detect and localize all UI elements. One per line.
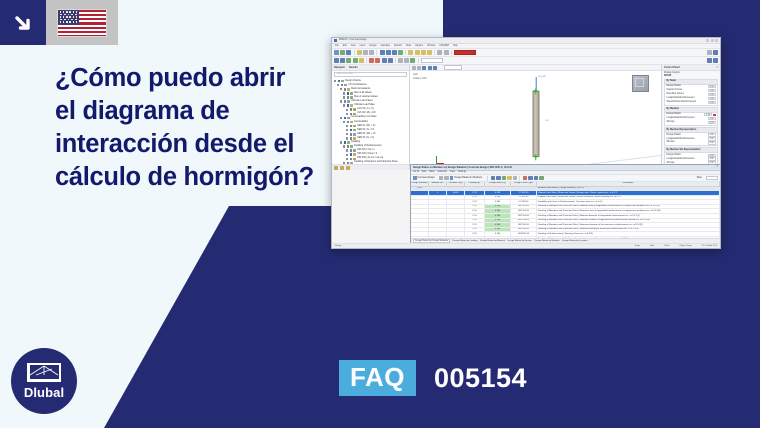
control-panel-row[interactable]: Stirrups1.00 <box>665 121 717 125</box>
tree-checkbox[interactable] <box>344 117 347 120</box>
results-table-cell <box>429 223 447 227</box>
tree-checkbox[interactable] <box>347 92 350 95</box>
results-table-cell: 0.184 <box>485 200 511 204</box>
page-title-line-4: cálculo de hormigón? <box>55 161 340 194</box>
member-label: M 1 <box>546 120 550 123</box>
control-panel-row-value[interactable]: 1.00 <box>708 141 716 144</box>
concrete-design-icon <box>413 176 417 180</box>
results-table-cell <box>429 209 447 213</box>
results-column-header[interactable]: Design Check Type <box>511 182 537 186</box>
toolbar-separator <box>405 50 406 55</box>
navigator-footer[interactable] <box>332 164 409 170</box>
app-toolbar-row-1[interactable] <box>332 49 720 57</box>
results-menu-selection[interactable]: Selection <box>438 171 447 174</box>
results-bottom-tab[interactable]: Design Ratios by Section <box>507 240 531 243</box>
window-controls[interactable] <box>706 39 718 42</box>
us-flag-icon <box>57 9 107 37</box>
results-table-cell <box>447 196 465 200</box>
results-table-cell: Detailing of Members and Particular Rule… <box>537 214 720 218</box>
control-panel-row-value[interactable]: 1.00 <box>708 121 716 124</box>
menu-item-calculate[interactable]: Calculate <box>381 45 391 48</box>
control-panel-row[interactable]: Stirrups1.00 <box>665 141 717 145</box>
tree-checkbox[interactable] <box>338 80 341 83</box>
app-toolbar-row-2[interactable] <box>332 57 720 65</box>
tree-expander-icon[interactable] <box>346 137 348 139</box>
results-table-cell: ULS <box>411 187 429 191</box>
tree-item-icon <box>350 121 353 124</box>
tree-item-label: Serviceability <box>354 121 368 124</box>
toolbar-separator <box>395 58 396 63</box>
menu-item-insert[interactable]: Insert <box>360 45 366 48</box>
tree-item-label: SER 02 | N + Vz <box>357 129 374 132</box>
results-table-cell <box>485 187 511 191</box>
toolbar-separator <box>519 176 520 181</box>
results-view-selector[interactable]: Design Ratios on Members <box>450 176 485 180</box>
design-ratio-icon <box>450 176 454 180</box>
results-table-cell <box>411 219 429 223</box>
tree-checkbox[interactable] <box>350 129 353 132</box>
viewport-toolbar[interactable] <box>410 65 661 71</box>
combination-icon[interactable] <box>388 58 393 63</box>
new-icon[interactable] <box>334 50 339 55</box>
display-factors-value: RC/CR <box>664 75 718 78</box>
faq-tag: FAQ <box>339 360 416 396</box>
tree-expander-icon[interactable]: − <box>343 145 345 147</box>
results-table-cell: Detailing of Reinforcement | Spacing of … <box>537 232 720 236</box>
results-table-cell <box>411 196 429 200</box>
results-table-cell: 0.184 <box>485 219 511 223</box>
tree-item-label: Max of all Values <box>354 92 372 95</box>
results-table-cell: Detailing of Members and Particular Rule… <box>537 209 720 213</box>
tree-expander-icon[interactable]: − <box>343 92 345 94</box>
interaction-diagram-icon[interactable] <box>539 176 543 180</box>
status-cs: CS: Global XYZ <box>702 245 717 248</box>
line-icon[interactable] <box>340 58 345 63</box>
results-tab-concrete-design[interactable]: Concrete Design <box>413 176 438 180</box>
results-filter-label: Filter <box>697 177 705 180</box>
solid-icon[interactable] <box>359 58 364 63</box>
results-table-cell <box>429 187 447 191</box>
tree-expander-icon[interactable]: − <box>340 100 342 102</box>
results-table-cell: 0.169 <box>485 196 511 200</box>
view-cube-icon[interactable] <box>632 75 649 92</box>
status-ready: Ready <box>335 245 341 248</box>
vp-rotate-icon[interactable] <box>412 66 416 70</box>
results-column-header[interactable]: Loading No. <box>465 182 485 186</box>
app-title: RFEM 6 - Concrete Design <box>339 39 367 42</box>
tree-expander-icon[interactable] <box>346 154 348 156</box>
columns-icon[interactable] <box>513 176 517 180</box>
tree-item-icon <box>353 158 356 161</box>
control-panel-row-value[interactable]: 1.00 <box>708 93 716 96</box>
results-bottom-tab[interactable]: Design Ratios by Member <box>534 240 559 243</box>
results-next-icon[interactable] <box>444 176 448 180</box>
results-table-cell: CO1 <box>465 205 485 209</box>
menu-item-window[interactable]: Window <box>427 45 435 48</box>
faq-badge: FAQ 005154 <box>339 360 527 396</box>
control-panel-row-value[interactable]: 1.00 <box>708 154 716 157</box>
toolbar-separator <box>434 50 435 55</box>
print-table-icon[interactable] <box>507 176 511 180</box>
results-table-cell: CC101.00 <box>511 191 537 195</box>
tree-item-icon <box>350 96 353 99</box>
navigator-tree[interactable]: −Design Checks−CO Combinations−Matrix An… <box>332 78 409 164</box>
tree-item-label: Serviceability Limit State <box>351 116 376 119</box>
tree-expander-icon[interactable]: − <box>343 96 345 98</box>
tree-expander-icon[interactable]: − <box>340 117 342 119</box>
tree-item-icon <box>347 117 350 120</box>
table-icon[interactable] <box>380 50 385 55</box>
toolbar-separator <box>487 176 488 181</box>
status-grid[interactable]: Grid <box>650 245 654 248</box>
render-icon[interactable] <box>437 50 442 55</box>
results-bottom-tab[interactable]: Design Ratios by Material <box>480 240 505 243</box>
results-table-cell <box>447 232 465 236</box>
results-table-cell: DET101.00 <box>511 205 537 209</box>
navigator-tab-results[interactable]: Results <box>349 66 358 69</box>
dimension-icon[interactable] <box>410 58 415 63</box>
tree-expander-icon[interactable] <box>346 125 348 127</box>
results-table-cell <box>429 228 447 232</box>
calculate-icon[interactable] <box>398 50 403 55</box>
results-menu-settings[interactable]: Settings <box>458 171 466 174</box>
results-table-cell: CO1 <box>465 219 485 223</box>
app-icon <box>334 39 337 42</box>
results-table-cell <box>447 228 465 232</box>
tree-item-label: ULS 02 | My + Mz <box>357 112 376 115</box>
tree-checkbox[interactable] <box>344 88 347 91</box>
results-table-cell: CO1 <box>465 200 485 204</box>
control-panel-row-label: Support Forces <box>667 89 683 92</box>
save-icon[interactable] <box>346 50 351 55</box>
delete-row-icon[interactable] <box>523 176 527 180</box>
surface-icon[interactable] <box>353 58 358 63</box>
language-flag-button[interactable] <box>46 0 118 45</box>
results-table-cell: CO1 <box>465 228 485 232</box>
menu-item-help[interactable]: Help <box>453 45 458 48</box>
menu-item-options[interactable]: Options <box>415 45 423 48</box>
control-panel-row-value[interactable]: 1.00 <box>708 101 716 104</box>
results-menu-goto[interactable]: Go To <box>413 171 419 174</box>
grid-icon[interactable] <box>386 50 391 55</box>
column-member[interactable] <box>532 91 539 157</box>
results-table-cell: CC103.00 <box>511 200 537 204</box>
dlubal-logo-text: Dlubal <box>24 385 64 400</box>
vp-iso-icon[interactable] <box>422 66 426 70</box>
redo-icon[interactable] <box>369 50 374 55</box>
node-support-top[interactable] <box>533 88 539 94</box>
language-bar <box>0 0 118 45</box>
results-table-cell <box>447 223 465 227</box>
vp-front-icon[interactable] <box>428 66 432 70</box>
results-bottom-tab[interactable]: Design Ratios by Loading <box>453 240 478 243</box>
tree-checkbox[interactable] <box>347 145 350 148</box>
tree-checkbox[interactable] <box>350 158 353 161</box>
control-panel-row-value[interactable]: 1.00 <box>708 97 716 100</box>
tree-expander-icon[interactable] <box>346 158 348 160</box>
node-support-bottom[interactable] <box>533 154 539 160</box>
tree-expander-icon[interactable]: − <box>334 80 336 82</box>
tree-item-icon <box>353 129 356 132</box>
control-panel-row-label: Longitudinal Reinforcement <box>667 138 695 141</box>
results-table-cell: DUR102.00 <box>511 237 537 238</box>
tree-checkbox[interactable] <box>350 108 353 111</box>
tree-item-icon <box>353 113 356 116</box>
control-panel-row-value[interactable]: 1.00 <box>708 117 716 120</box>
open-icon[interactable] <box>340 50 345 55</box>
hinge-icon[interactable] <box>375 58 380 63</box>
results-table-cell: Durability and Cover to Reinforcement | … <box>537 200 720 204</box>
faq-card: ¿Cómo puedo abrir el diagrama de interac… <box>0 0 760 428</box>
status-ortho[interactable]: Ortho <box>664 245 669 248</box>
view-selector[interactable] <box>421 58 443 63</box>
results-menu-view[interactable]: View <box>450 171 455 174</box>
status-bar-right[interactable]: Snap Grid Ortho Object Snap CS: Global X… <box>635 245 717 248</box>
tree-checkbox[interactable] <box>344 141 347 144</box>
tree-expander-icon[interactable]: − <box>343 104 345 106</box>
tree-expander-icon[interactable] <box>346 109 348 111</box>
navigator-filter-input[interactable]: Enter text to filter <box>334 72 407 77</box>
results-table[interactable]: Design SituationMember No.Location x [m]… <box>411 182 720 238</box>
tree-checkbox[interactable] <box>341 84 344 87</box>
results-tab-label: Concrete Design <box>418 177 435 180</box>
results-column-header[interactable]: Member No. <box>429 182 447 186</box>
status-objectsnap[interactable]: Object Snap <box>680 245 692 248</box>
select-icon[interactable] <box>398 58 403 63</box>
load-case-selector[interactable] <box>454 50 476 55</box>
tree-item-icon <box>347 100 350 103</box>
node-icon[interactable] <box>334 58 339 63</box>
results-table-cell: CO1 <box>465 232 485 236</box>
settings-icon[interactable] <box>707 50 712 55</box>
control-panel-row[interactable]: Shear/Torsion Reinforcement1.00 <box>665 101 717 105</box>
tree-checkbox[interactable] <box>347 121 350 124</box>
toolbar-separator <box>451 50 452 55</box>
tree-checkbox[interactable] <box>350 125 353 128</box>
results-minimize-icon[interactable]: _ <box>714 166 715 169</box>
control-panel-row-label: Longitudinal Reinforcement <box>667 117 695 120</box>
results-table-cell: Detailing of Members and Particular Rule… <box>537 223 720 227</box>
faq-number: 005154 <box>434 363 527 394</box>
navigator-tab-navigator[interactable]: Navigator <box>334 66 345 69</box>
close-icon[interactable] <box>715 39 718 42</box>
maximize-icon[interactable] <box>711 39 714 42</box>
layers-icon[interactable] <box>392 50 397 55</box>
tree-refresh-icon[interactable] <box>346 166 350 170</box>
results-icon[interactable] <box>707 58 712 63</box>
results-table-cell <box>411 205 429 209</box>
results-table-cell <box>411 232 429 236</box>
tree-expander-icon[interactable] <box>346 113 348 115</box>
control-panel-group: By NodeDesign Ratios1.00Support Forces1.… <box>664 79 718 106</box>
tree-checkbox[interactable] <box>350 153 353 156</box>
control-panel-close-icon[interactable]: × <box>717 66 718 69</box>
control-panel-groups[interactable]: By NodeDesign Ratios1.00Support Forces1.… <box>662 79 720 164</box>
viewport-label-sub: Loads | 1 kN <box>413 77 426 80</box>
tree-collapse-icon[interactable] <box>340 166 344 170</box>
results-table-cell: 0.169 <box>485 191 511 195</box>
tree-expander-icon[interactable] <box>346 129 348 131</box>
tree-expander-icon[interactable]: − <box>340 141 342 143</box>
navigator-filter-placeholder: Enter text to filter <box>337 73 354 76</box>
tree-item-icon <box>344 84 347 87</box>
load-icon[interactable] <box>382 58 387 63</box>
tree-expander-icon[interactable]: − <box>343 121 345 123</box>
menu-item-tools[interactable]: Tools <box>406 45 411 48</box>
control-panel-row-value[interactable]: 1.00 <box>708 85 716 88</box>
tree-checkbox[interactable] <box>350 137 353 140</box>
results-column-header[interactable]: Description <box>537 182 720 186</box>
results-close-icon[interactable]: × <box>717 166 718 169</box>
zoom-fit-icon[interactable] <box>421 50 426 55</box>
results-view-label: Design Ratios on Members <box>454 177 482 180</box>
results-column-header[interactable]: Design Situation <box>411 182 429 186</box>
tree-item-label: ULS 01 | N + Vy <box>357 108 374 111</box>
model-viewport[interactable]: ULS Loads | 1 kN 10.0 kN M 1 <box>410 65 662 170</box>
zoom-in-icon[interactable] <box>408 50 413 55</box>
pan-icon[interactable] <box>427 50 432 55</box>
tree-item-label: Design Checks <box>345 80 361 83</box>
sort-icon[interactable] <box>496 176 500 180</box>
menu-item-design[interactable]: Design <box>369 45 376 48</box>
results-window-controls[interactable]: _ × <box>714 166 718 169</box>
control-panel-color-swatch[interactable] <box>713 114 715 116</box>
tree-item-icon <box>350 145 353 148</box>
support-icon[interactable] <box>369 58 374 63</box>
diagram-icon[interactable] <box>713 58 718 63</box>
navigator-panel: Navigator Results Enter text to filter −… <box>332 65 410 170</box>
results-bottom-tab[interactable]: Design Ratios by Location <box>562 240 587 243</box>
print-icon[interactable] <box>357 50 362 55</box>
tree-checkbox[interactable] <box>350 149 353 152</box>
results-table-cell: CO1 <box>465 191 485 195</box>
control-panel-row-value[interactable]: 1.00 <box>708 89 716 92</box>
tree-item-label: DIN 001 | Cov / c <box>357 149 375 152</box>
page-title-line-1: ¿Cómo puedo abrir <box>55 62 340 95</box>
results-table-cell <box>429 200 447 204</box>
control-panel-row-value[interactable]: 1.00 <box>708 157 716 160</box>
results-column-header[interactable]: Design Ratio η [-] <box>485 182 511 186</box>
menu-item-cadbim[interactable]: CAD/BIM <box>439 45 449 48</box>
tree-expander-icon[interactable]: − <box>340 88 342 90</box>
results-table-cell: 0.184 <box>485 205 511 209</box>
results-filter-input[interactable] <box>706 176 718 181</box>
tree-item-icon <box>350 104 353 107</box>
tree-item-label: Matrix Annotations <box>351 88 370 91</box>
menu-item-view[interactable]: View <box>351 45 356 48</box>
menu-item-edit[interactable]: Edit <box>343 45 347 48</box>
tree-item-icon <box>347 88 350 91</box>
control-panel-group: By MemberDesign Ratios1.00Longitudinal R… <box>664 107 718 126</box>
control-panel-row-label: Design Ratios <box>667 134 681 137</box>
results-table-cell <box>465 187 485 191</box>
dlubal-logo: Dlubal <box>11 348 77 414</box>
app-main-body: Navigator Results Enter text to filter −… <box>332 65 720 170</box>
results-table-cell: DUR101.00 <box>511 232 537 236</box>
tree-checkbox[interactable] <box>347 104 350 107</box>
tree-expander-icon[interactable] <box>346 133 348 135</box>
control-panel-row-label: Design Ratios <box>667 154 681 157</box>
results-table-cell <box>429 237 447 238</box>
tree-expander-icon[interactable] <box>346 149 348 151</box>
export-excel-icon[interactable] <box>502 176 506 180</box>
tree-item-icon <box>341 80 344 83</box>
results-table-cell: CC102.00 <box>511 196 537 200</box>
results-table-cell: Members and Nodes | Design Situation | U… <box>537 187 720 191</box>
results-table-cell <box>511 187 537 191</box>
control-panel-row-value[interactable]: 1.00 <box>708 133 716 136</box>
search-icon[interactable] <box>528 176 532 180</box>
tree-expand-icon[interactable] <box>334 166 338 170</box>
minimize-icon[interactable] <box>706 39 709 42</box>
viewport-label-title: ULS <box>413 73 418 76</box>
status-snap[interactable]: Snap <box>635 245 640 248</box>
graph-icon[interactable] <box>534 176 538 180</box>
results-table-cell <box>429 196 447 200</box>
vp-loadcase-field[interactable] <box>444 65 462 70</box>
navigator-header: Navigator Results <box>332 65 409 71</box>
tree-checkbox[interactable] <box>350 113 353 116</box>
tree-checkbox[interactable] <box>344 100 347 103</box>
vp-top-icon[interactable] <box>433 66 437 70</box>
undo-icon[interactable] <box>363 50 368 55</box>
results-table-cell <box>447 187 465 191</box>
control-panel-group: By Member RepresentationDesign Ratios1.0… <box>664 127 718 146</box>
results-table-cell <box>411 191 429 195</box>
zoom-out-icon[interactable] <box>415 50 420 55</box>
results-table-cell: 0.184 <box>485 223 511 227</box>
tree-item-icon <box>353 108 356 111</box>
display-factors-label: Display Factors <box>664 72 680 74</box>
wireframe-icon[interactable] <box>444 50 449 55</box>
menu-item-results[interactable]: Results <box>394 45 402 48</box>
tree-checkbox[interactable] <box>347 96 350 99</box>
results-table-body[interactable]: ULSMembers and Nodes | Design Situation … <box>411 187 720 238</box>
member-icon[interactable] <box>346 58 351 63</box>
results-table-cell: DET103.00 <box>511 214 537 218</box>
results-table-cell <box>411 209 429 213</box>
results-prev-icon[interactable] <box>439 176 443 180</box>
results-table-cell <box>447 237 465 238</box>
results-table-cell: 0.000 <box>447 191 465 195</box>
control-panel-row-label: Longitudinal Reinforcement <box>667 97 695 100</box>
tree-expander-icon[interactable]: − <box>337 84 339 86</box>
results-menu-table[interactable]: Table <box>429 171 435 174</box>
tree-checkbox[interactable] <box>350 133 353 136</box>
results-menu-edit[interactable]: Edit <box>422 171 426 174</box>
filter-icon[interactable] <box>491 176 495 180</box>
results-table-cell: Detailing of Members and Particular Rule… <box>537 228 720 232</box>
vp-zoom-icon[interactable] <box>417 66 421 70</box>
results-table-cell <box>411 228 429 232</box>
control-panel-group: By Member Set RepresentationDesign Ratio… <box>664 147 718 164</box>
control-panel: Control Panel × Display Factors RC/CR By… <box>662 65 720 170</box>
page-title-line-3: interacción desde el <box>55 128 340 161</box>
toolbar-separator <box>418 58 419 63</box>
control-panel-row[interactable]: Longitudinal Reinforcement1.00 <box>665 157 717 161</box>
toolbar-separator <box>366 58 367 63</box>
control-panel-row-value[interactable]: 1.00 <box>708 137 716 140</box>
help-icon[interactable] <box>713 50 718 55</box>
toolbar-separator <box>376 50 377 55</box>
results-table-cell <box>429 214 447 218</box>
menu-item-file[interactable]: File <box>335 45 339 48</box>
results-table-row[interactable]: CO10.184DUR102.00Detailing of Reinforcem… <box>411 237 720 238</box>
control-panel-row-value[interactable]: 1.00 <box>704 113 712 116</box>
tree-item-label: Detailing of Reinforcement <box>354 145 381 148</box>
measure-icon[interactable] <box>404 58 409 63</box>
results-column-header[interactable]: Location x [m] <box>447 182 465 186</box>
